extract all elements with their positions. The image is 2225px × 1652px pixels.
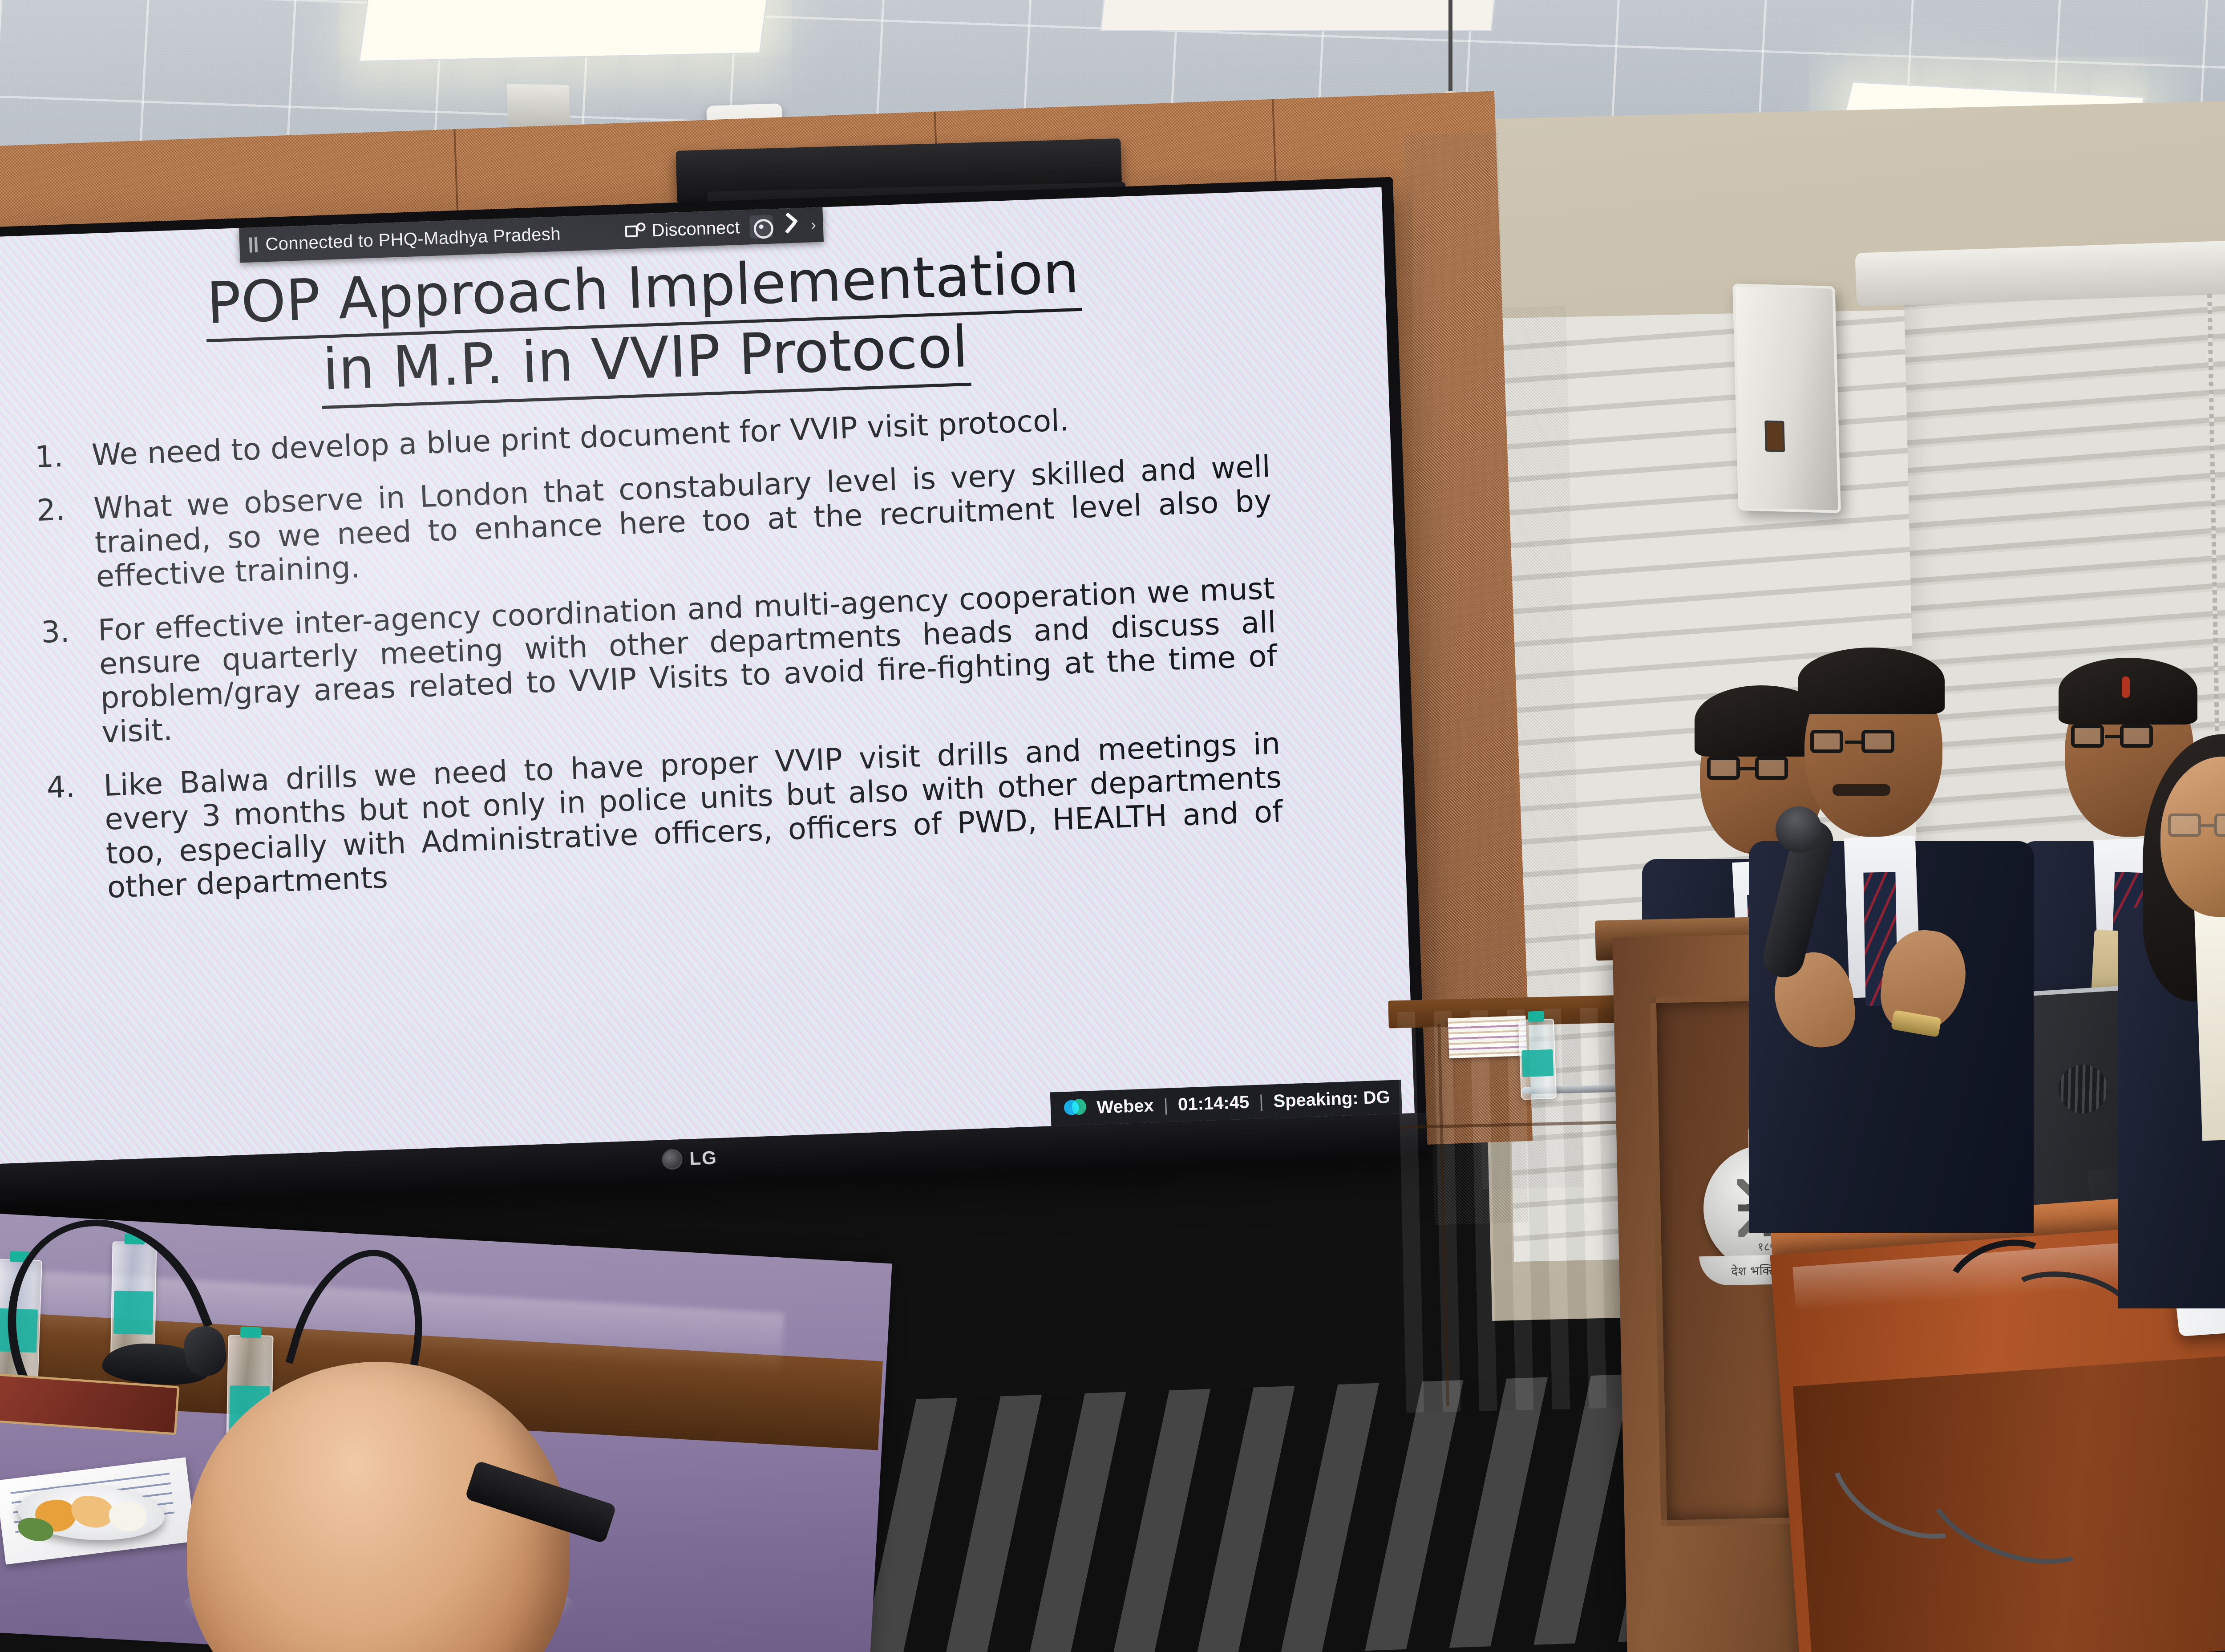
active-speaker-label: Speaking: DG — [1273, 1087, 1391, 1111]
connection-status-label: Connected to PHQ-Madhya Pradesh — [265, 224, 561, 255]
list-item-number: 4. — [46, 769, 92, 907]
presentation-slide: POP Approach Implementation in M.P. in V… — [0, 187, 1415, 1164]
ceiling-light-panel — [1100, 0, 1499, 31]
slide-title: POP Approach Implementation in M.P. in V… — [0, 232, 1335, 422]
display-power-led — [662, 1149, 683, 1170]
list-item: 3. For effective inter-agency coordinati… — [40, 571, 1279, 751]
ceiling-light-panel — [359, 0, 772, 62]
chevron-right-icon[interactable]: › — [811, 216, 817, 234]
pin-icon[interactable] — [782, 215, 802, 236]
share-screen-icon — [625, 223, 646, 240]
hp-logo-icon — [2057, 1063, 2109, 1115]
webex-app-label: Webex — [1096, 1096, 1154, 1118]
list-item-number: 1. — [34, 439, 77, 474]
list-item-text: What we observe in London that constabul… — [93, 449, 1274, 594]
display-screen[interactable]: POP Approach Implementation in M.P. in V… — [0, 187, 1415, 1164]
list-item-number: 3. — [40, 614, 86, 751]
list-item-text: Like Balwa drills we need to have proper… — [103, 726, 1284, 904]
status-separator: | — [1163, 1095, 1169, 1115]
disconnect-button[interactable]: Disconnect — [625, 218, 740, 242]
presentation-display: POP Approach Implementation in M.P. in V… — [0, 177, 1428, 1207]
meeting-elapsed-time: 01:14:45 — [1177, 1092, 1250, 1115]
water-bottle — [1518, 1019, 1557, 1100]
wall-speaker — [1732, 283, 1841, 513]
display-brand-logo: LG — [662, 1147, 718, 1170]
pause-icon[interactable] — [249, 237, 258, 253]
disconnect-label: Disconnect — [651, 218, 740, 241]
list-item: 2. What we observe in London that consta… — [36, 449, 1273, 595]
ceiling-bracket — [506, 84, 570, 128]
list-item-number: 2. — [36, 492, 81, 595]
gear-icon[interactable] — [749, 215, 773, 239]
stacked-books — [1448, 1016, 1527, 1058]
list-item-text: For effective inter-agency coordination … — [97, 571, 1279, 749]
status-separator: | — [1258, 1092, 1264, 1112]
conference-room-scene: POP Approach Implementation in M.P. in V… — [0, 0, 2225, 1652]
slide-bullet-list: 1. We need to develop a blue print docum… — [34, 396, 1285, 926]
pendant-rod — [1448, 0, 1452, 96]
brand-label: LG — [689, 1147, 718, 1169]
webex-logo-icon — [1064, 1098, 1088, 1119]
list-item: 4. Like Balwa drills we need to have pro… — [46, 726, 1284, 907]
